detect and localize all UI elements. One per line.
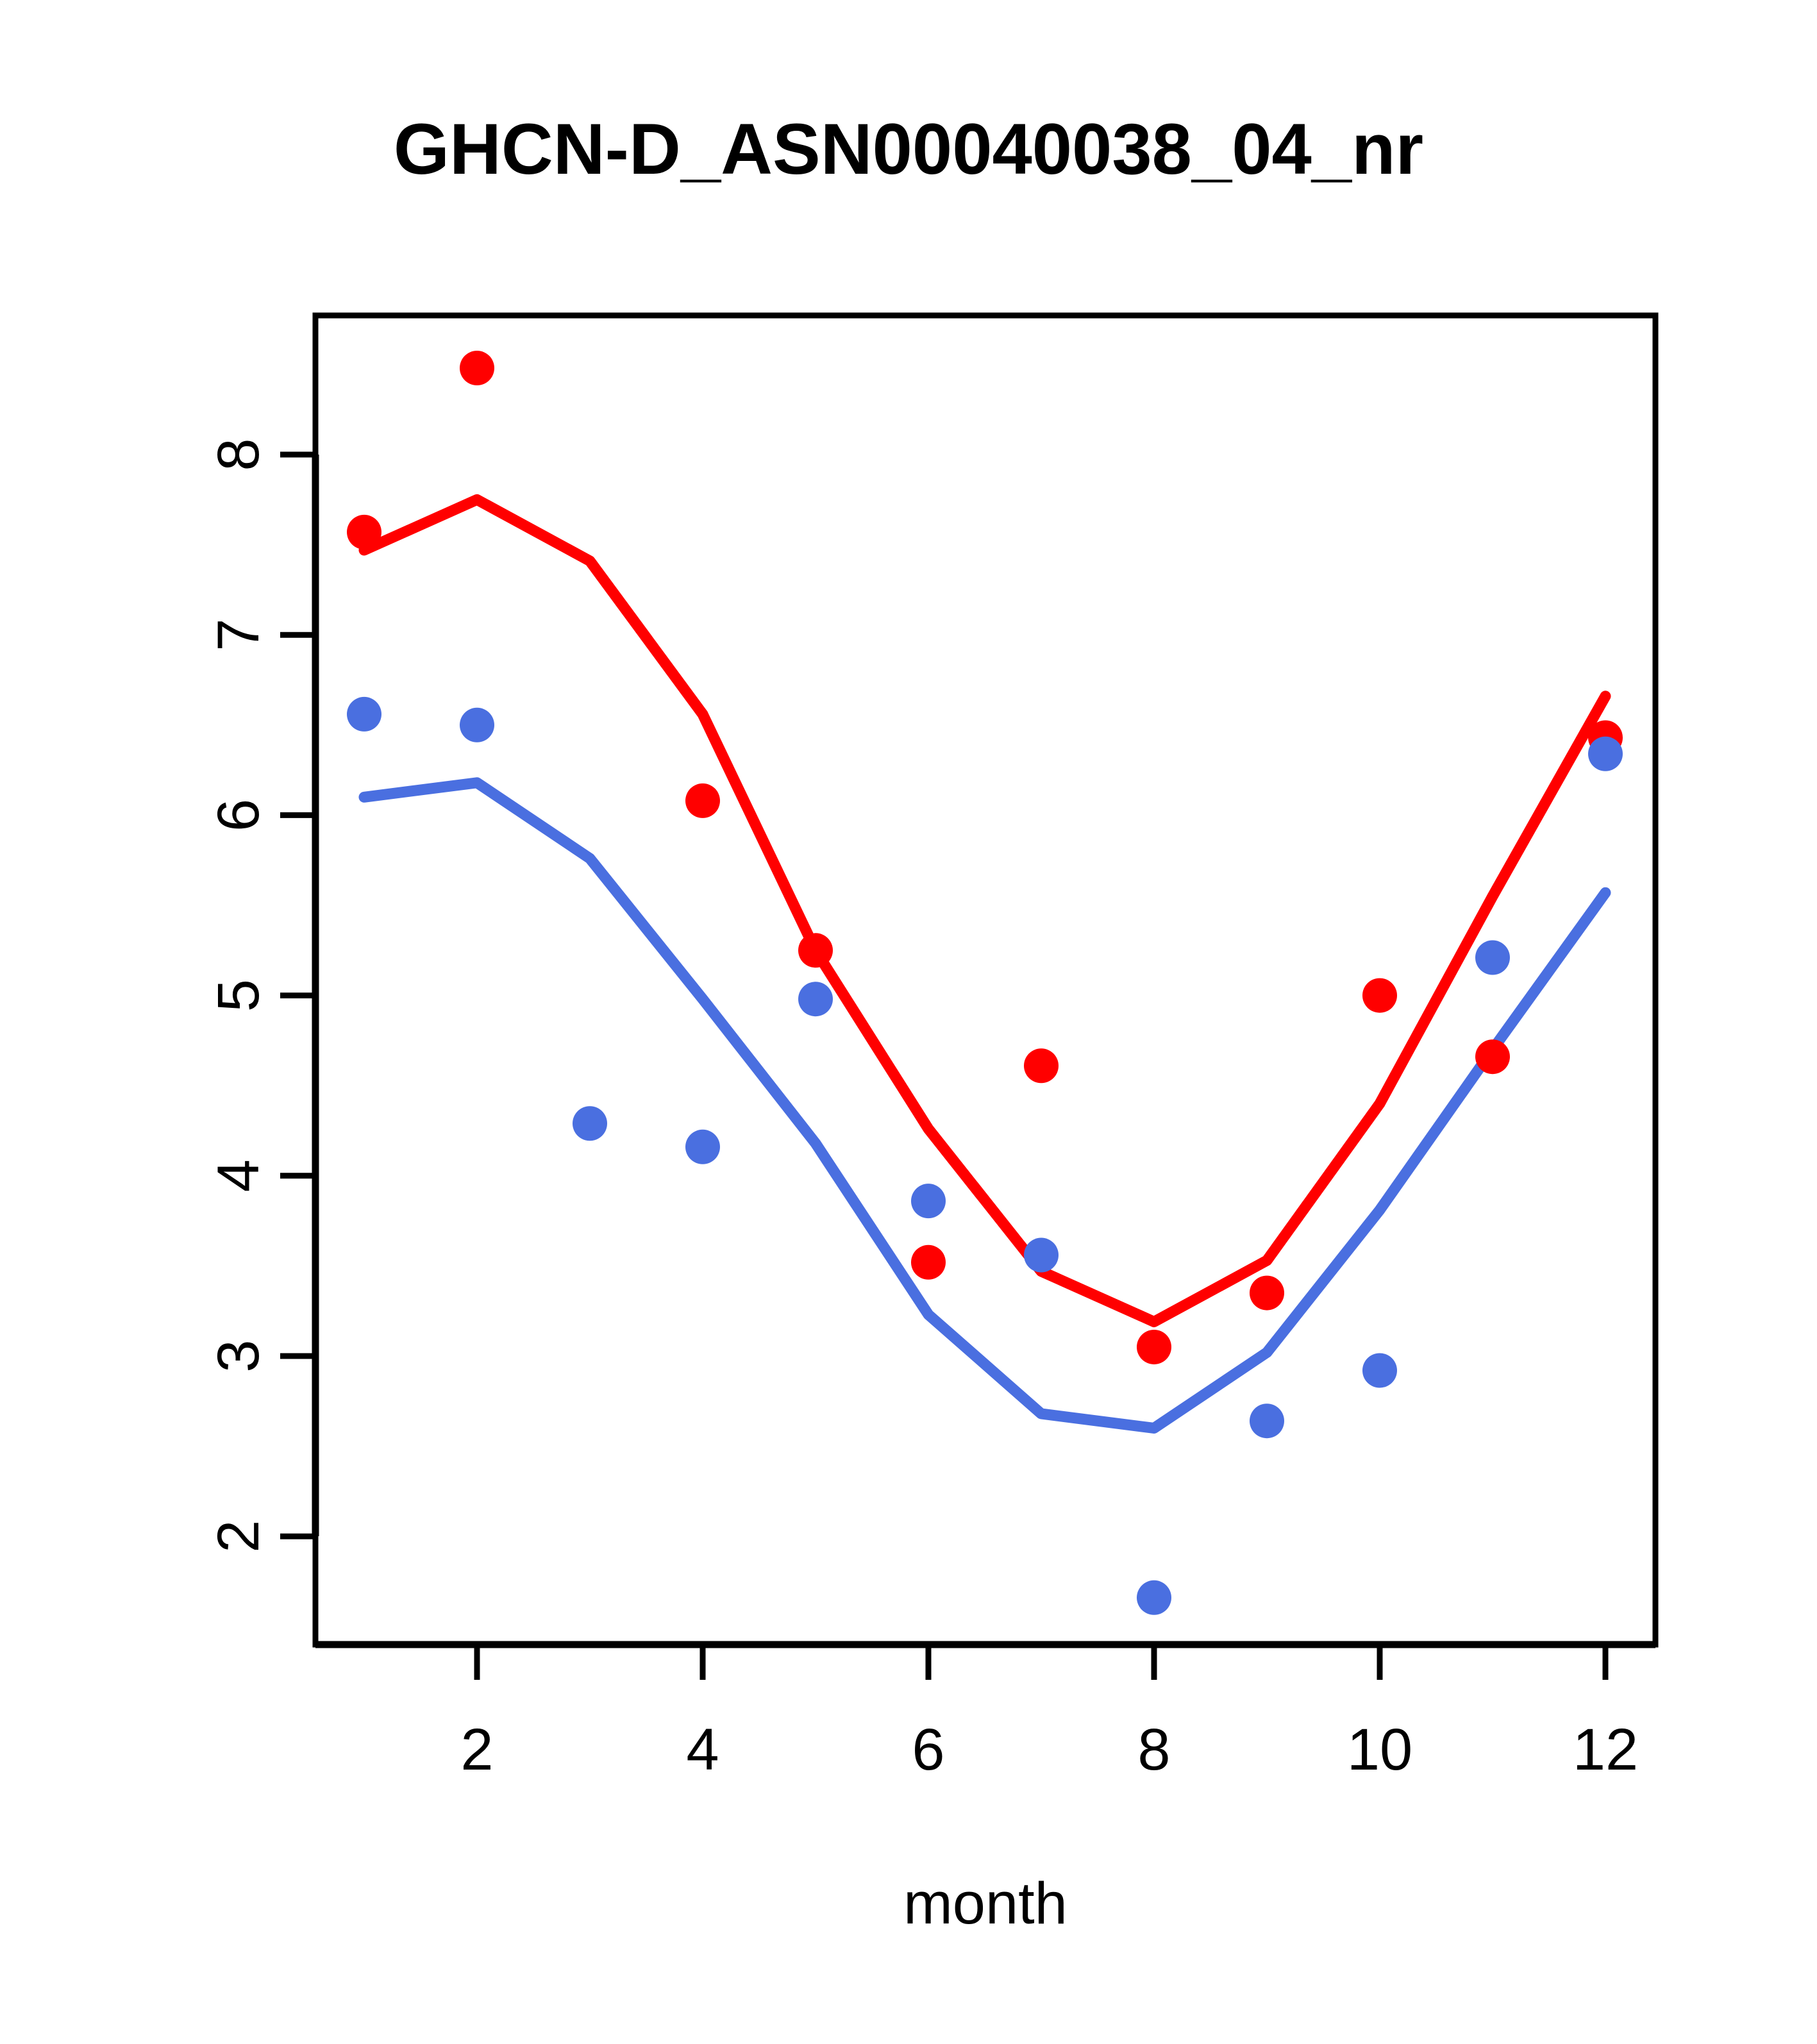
chart-page: GHCN-D_ASN00040038_04_nr 24681012 234567…	[0, 0, 1817, 2044]
y-tick-label: 4	[206, 1159, 271, 1192]
y-axis: 2345678	[206, 438, 315, 1552]
line-series-layer	[364, 499, 1605, 1428]
data-point	[460, 708, 494, 742]
red-points	[347, 351, 1623, 1364]
data-point	[1475, 1039, 1510, 1074]
x-tick-label: 10	[1347, 1717, 1412, 1782]
data-point	[798, 982, 833, 1016]
data-point	[1024, 1048, 1059, 1083]
x-tick-label: 12	[1573, 1717, 1638, 1782]
data-point	[911, 1184, 946, 1218]
red-line	[364, 499, 1605, 1321]
data-point	[347, 697, 381, 732]
x-tick-label: 2	[460, 1717, 493, 1782]
data-point	[1137, 1580, 1171, 1615]
x-tick-label: 6	[912, 1717, 944, 1782]
data-point	[685, 1130, 720, 1164]
data-point	[1250, 1403, 1284, 1438]
point-series-layer	[347, 351, 1623, 1615]
plot-frame	[315, 315, 1655, 1645]
data-point	[685, 783, 720, 818]
data-point	[347, 515, 381, 549]
x-tick-label: 8	[1137, 1717, 1170, 1782]
y-tick-label: 2	[206, 1520, 271, 1553]
y-tick-label: 3	[206, 1339, 271, 1372]
x-axis-title: month	[903, 1871, 1068, 1936]
data-point	[1024, 1238, 1059, 1273]
blue-points	[347, 697, 1623, 1615]
data-point	[460, 351, 494, 385]
data-point	[573, 1106, 607, 1141]
data-point	[1362, 1353, 1397, 1387]
data-point	[798, 933, 833, 968]
data-point	[1475, 941, 1510, 975]
x-axis: 24681012	[315, 1645, 1655, 1782]
chart-canvas: 24681012 2345678 month	[0, 0, 1817, 2044]
y-tick-label: 7	[206, 619, 271, 651]
data-point	[1137, 1330, 1171, 1364]
y-tick-label: 6	[206, 799, 271, 832]
blue-line	[364, 783, 1605, 1428]
y-tick-label: 5	[206, 979, 271, 1012]
data-point	[1362, 978, 1397, 1013]
data-point	[911, 1245, 946, 1280]
y-tick-label: 8	[206, 438, 271, 471]
data-point	[1250, 1276, 1284, 1311]
data-point	[1588, 737, 1623, 771]
x-tick-label: 4	[686, 1717, 719, 1782]
